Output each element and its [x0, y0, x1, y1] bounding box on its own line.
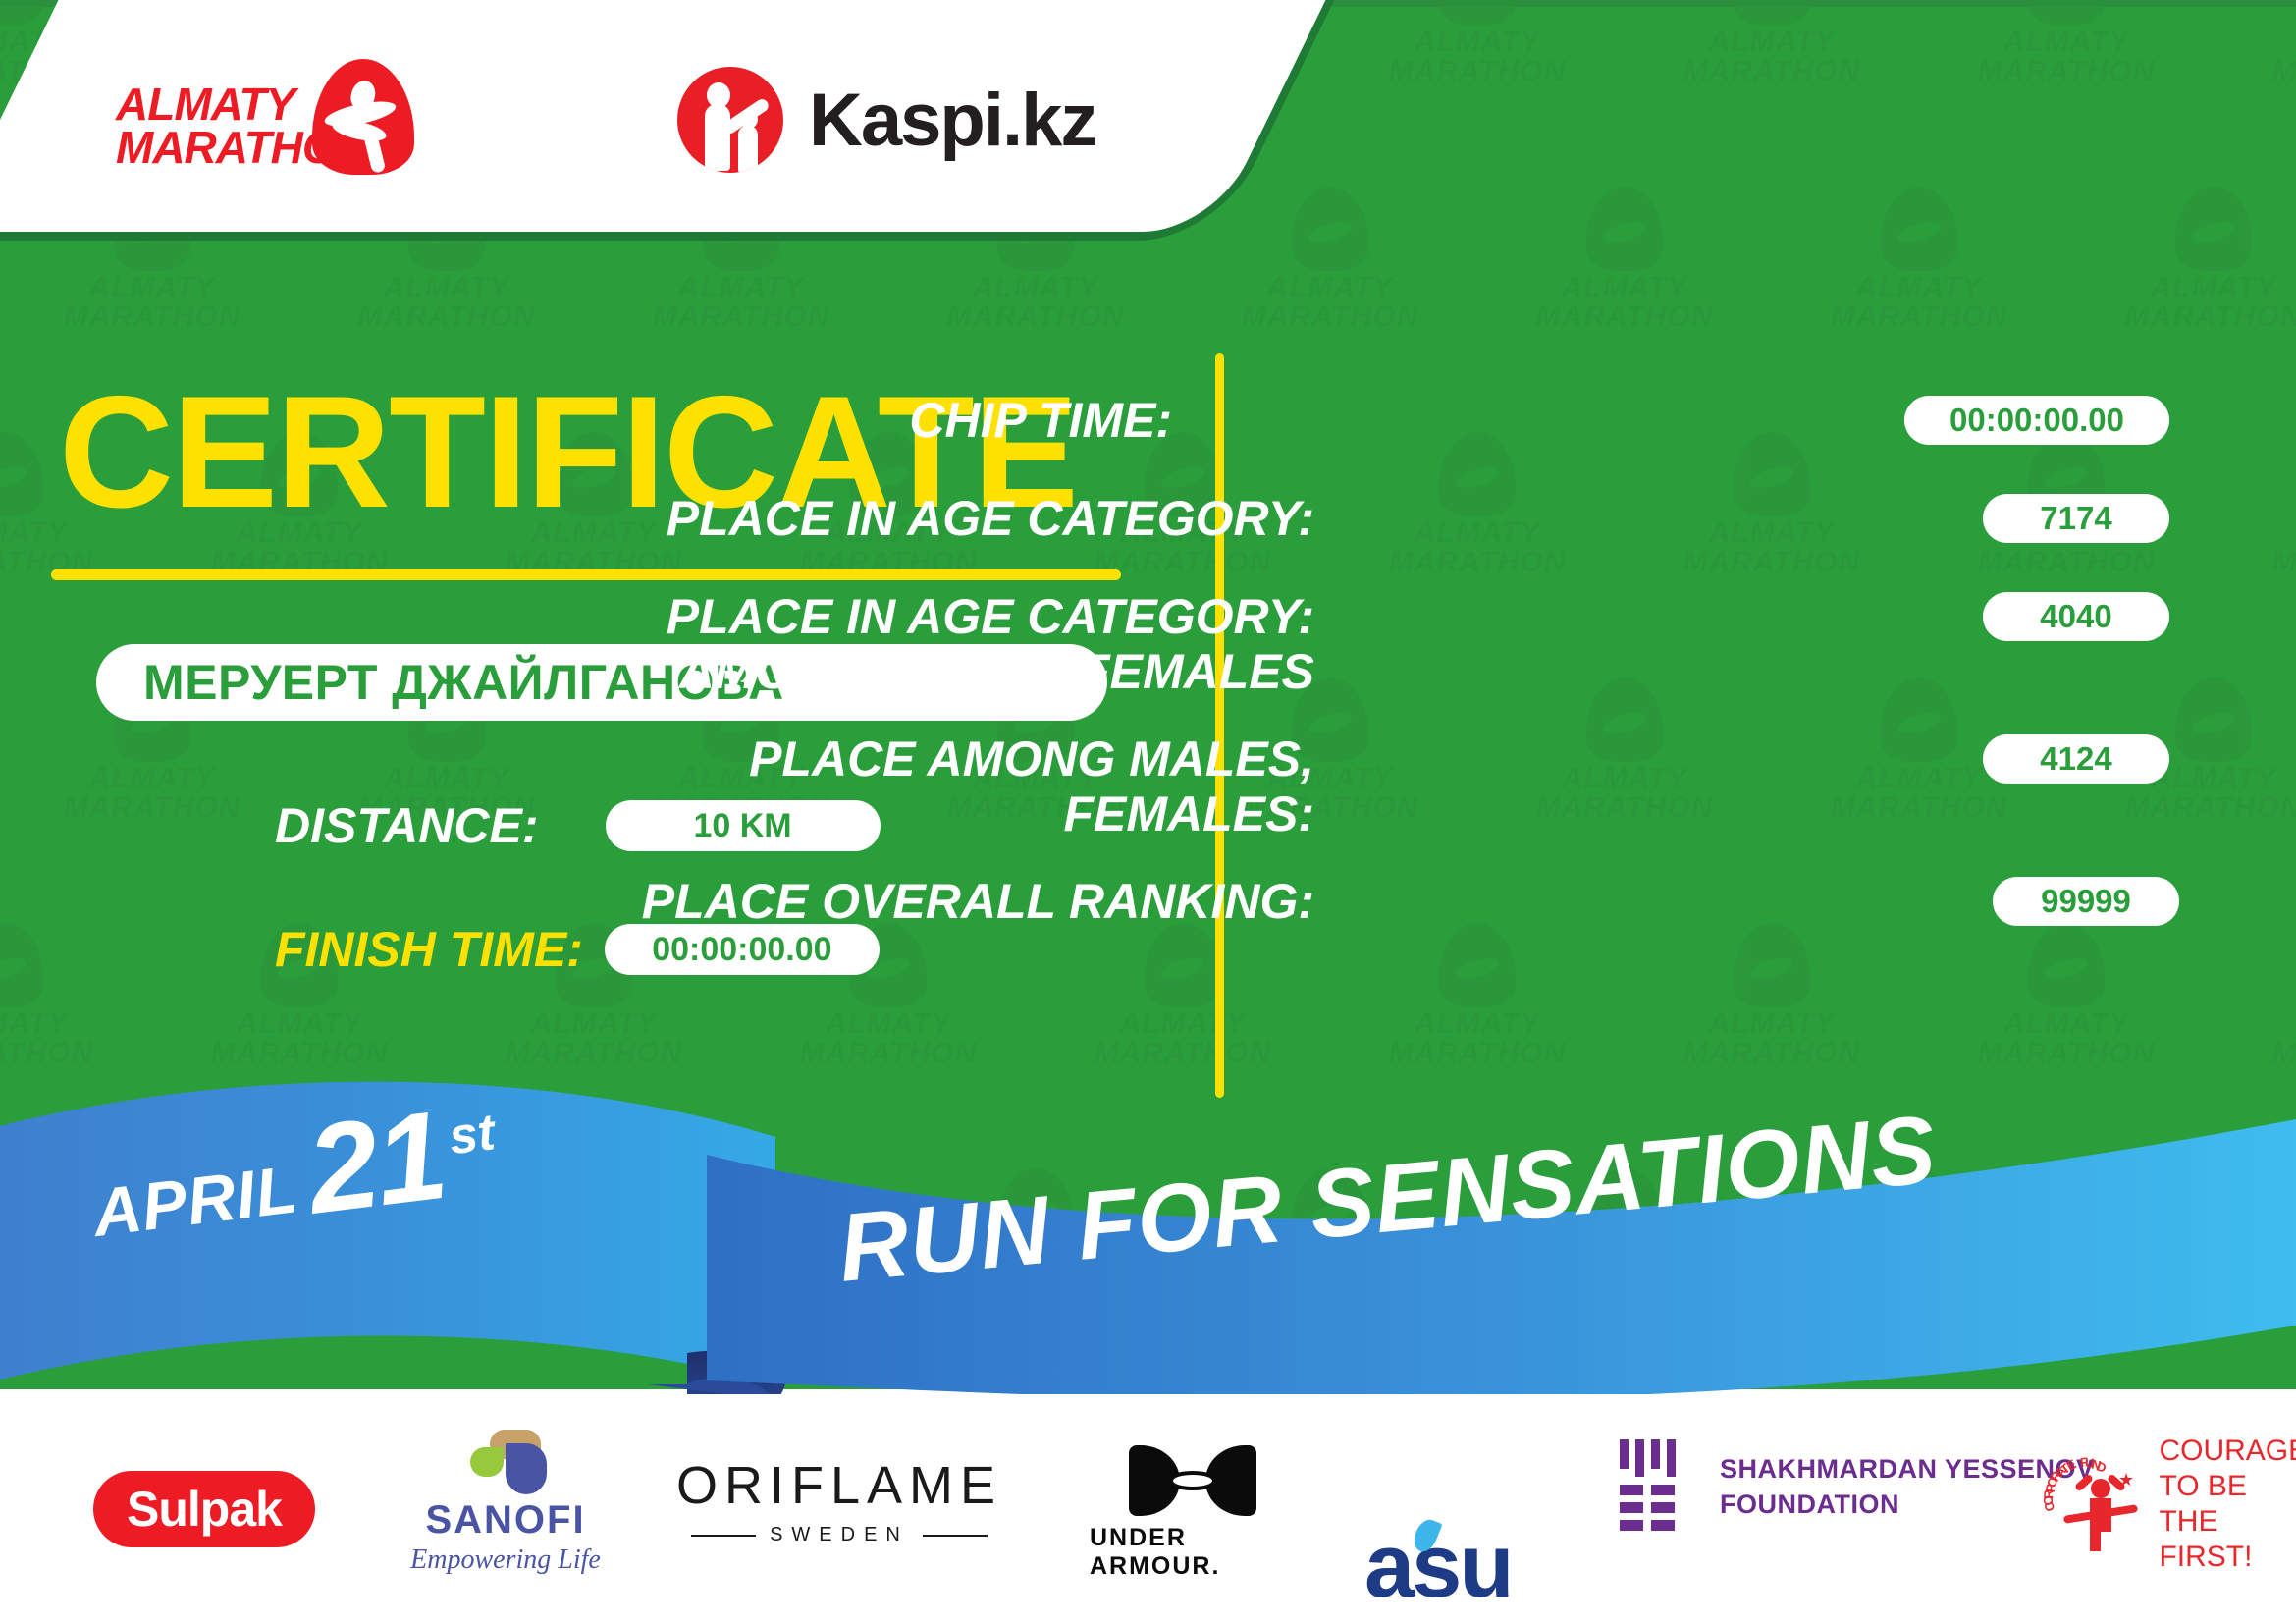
result-value: 4124 [2040, 740, 2111, 778]
yessenov-bar-icon [1651, 1485, 1675, 1495]
yessenov-bar-icon [1620, 1439, 1629, 1469]
result-value-pill: 4124 [1983, 734, 2169, 784]
result-value: 7174 [2040, 500, 2111, 537]
result-row: CHIP TIME:00:00:00.00 [0, 393, 2296, 394]
kaspi-body-icon [705, 104, 730, 171]
sanofi-tagline: Empowering Life [410, 1544, 601, 1576]
under-armour-wordmark: UNDER ARMOUR. [1090, 1524, 1296, 1581]
certificate-page: ALMATYMARATHONALMATYMARATHONALMATYMARATH… [0, 0, 2296, 1624]
sponsor-sulpak: Sulpak [93, 1471, 315, 1547]
finish-time-value: 00:00:00.00 [652, 931, 831, 969]
oriflame-rule-right [923, 1535, 988, 1537]
result-row: PLACE OVERALL RANKING:99999 [0, 874, 2296, 875]
result-label: PLACE IN AGE CATEGORY: AMONG MALES, FEMA… [667, 589, 1314, 699]
result-label: PLACE AMONG MALES, FEMALES: [749, 731, 1314, 841]
yessenov-bar-icon [1620, 1485, 1643, 1495]
courage-line3: THE FIRST! [2159, 1504, 2296, 1575]
sanofi-wordmark: SANOFI [425, 1498, 585, 1543]
sponsor-sanofi: SANOFI Empowering Life [393, 1430, 618, 1576]
finish-time-label: FINISH TIME: [275, 921, 583, 978]
sanofi-icon-leaf [470, 1447, 504, 1477]
kaspi-child-body-icon [738, 126, 758, 173]
sponsor-yessenov-foundation: SHAKHMARDAN YESSENOV FOUNDATION [1620, 1439, 2095, 1534]
oriflame-wordmark: ORIFLAME [676, 1455, 1002, 1516]
yessenov-wordmark: SHAKHMARDAN YESSENOV FOUNDATION [1720, 1451, 2095, 1523]
yessenov-bar-icon [1635, 1439, 1644, 1477]
oriflame-rule-left [691, 1535, 756, 1537]
distance-label: DISTANCE: [275, 797, 539, 854]
watermark-tile: ALMATYMARATHON [1669, 0, 1875, 137]
oriflame-sub: SWEDEN [691, 1524, 988, 1546]
kaspi-logo: Kaspi.kz [677, 61, 1095, 179]
runner-leg-icon [331, 116, 389, 144]
watermark-tile: ALMATYMARATHON [1374, 0, 1580, 137]
yessenov-line2: FOUNDATION [1720, 1487, 2095, 1522]
result-label: PLACE OVERALL RANKING: [642, 874, 1314, 929]
watermark-tile: ALMATYMARATHON [2258, 432, 2296, 628]
result-label: PLACE IN AGE CATEGORY: [667, 491, 1314, 546]
result-value-pill: 7174 [1983, 494, 2169, 543]
result-value-pill: 00:00:00.00 [1904, 396, 2169, 445]
yessenov-bar-icon [1620, 1520, 1643, 1531]
watermark-tile: ALMATYMARATHON [1522, 677, 1728, 874]
finish-time-value-pill: 00:00:00.00 [605, 924, 880, 975]
yessenov-bar-icon [1651, 1520, 1675, 1531]
oriflame-country: SWEDEN [770, 1524, 909, 1546]
watermark-tile: ALMATYMARATHON [2110, 187, 2296, 383]
result-label: CHIP TIME: [909, 393, 1172, 448]
ua-center-hole-icon [1173, 1475, 1212, 1487]
yessenov-line1: SHAKHMARDAN YESSENOV [1720, 1451, 2095, 1487]
kaspi-wordmark: Kaspi.kz [809, 78, 1095, 163]
watermark-tile: ALMATYMARATHON [1227, 187, 1433, 383]
result-row: PLACE IN AGE CATEGORY: AMONG MALES, FEMA… [0, 589, 2296, 590]
sponsor-asu: asu [1364, 1515, 1512, 1618]
watermark-tile: ALMATYMARATHON [1963, 0, 2169, 137]
sanofi-icon [464, 1430, 547, 1494]
yessenov-bar-icon [1667, 1439, 1676, 1477]
sponsor-strip: Sulpak SANOFI Empowering Life ORIFLAME S… [0, 1394, 2296, 1624]
watermark-tile: ALMATYMARATHON [1669, 432, 1875, 628]
result-value-pill: 99999 [1993, 877, 2179, 926]
courage-leg-icon [2090, 1528, 2101, 1551]
result-value: 00:00:00.00 [1949, 402, 2124, 439]
sanofi-icon-right [506, 1443, 547, 1494]
watermark-tile: ALMATYMARATHON [1816, 187, 2022, 383]
event-day-suffix: st [446, 1103, 498, 1166]
yessenov-bar-icon [1651, 1502, 1675, 1513]
runner-drop-icon [312, 59, 414, 175]
yessenov-bar-icon [1620, 1502, 1643, 1513]
finish-time-row: FINISH TIME: 00:00:00.00 [275, 921, 880, 978]
sponsor-courage-first: CORPORATE FUND ★ COURAGE TO BE THE FIRST… [2042, 1434, 2296, 1575]
column-divider [1215, 353, 1224, 1098]
result-row: PLACE IN AGE CATEGORY:7174 [0, 491, 2296, 492]
yessenov-bar-icon [1651, 1439, 1660, 1469]
courage-head-icon [2091, 1479, 2110, 1498]
sulpak-wordmark: Sulpak [127, 1481, 282, 1538]
event-day: 21 [302, 1102, 451, 1225]
watermark-tile: ALMATYMARATHON [2258, 0, 2296, 137]
courage-figure-icon: ★ [2075, 1471, 2128, 1549]
result-value: 99999 [2041, 883, 2131, 920]
result-row: PLACE AMONG MALES, FEMALES:4124 [0, 731, 2296, 732]
yessenov-icon [1620, 1439, 1694, 1534]
watermark-tile: ALMATYMARATHON [1522, 187, 1728, 383]
courage-wordmark: COURAGE TO BE THE FIRST! [2159, 1434, 2296, 1575]
sponsor-under-armour: UNDER ARMOUR. [1090, 1445, 1296, 1581]
result-value: 4040 [2040, 598, 2111, 635]
title-divider [51, 569, 1121, 580]
result-value-pill: 4040 [1983, 592, 2169, 641]
kaspi-people-icon [677, 67, 783, 173]
watermark-tile: ALMATYMARATHON [1374, 432, 1580, 628]
sponsor-oriflame: ORIFLAME SWEDEN [677, 1455, 1001, 1546]
courage-icon: CORPORATE FUND ★ [2042, 1453, 2139, 1555]
almaty-marathon-logo: ALMATY MARATHON [116, 59, 430, 187]
courage-line1: COURAGE [2159, 1434, 2296, 1469]
header-content: ALMATY MARATHON Kaspi.kz [0, 0, 1158, 241]
courage-line2: TO BE [2159, 1469, 2296, 1504]
under-armour-icon [1129, 1445, 1256, 1516]
